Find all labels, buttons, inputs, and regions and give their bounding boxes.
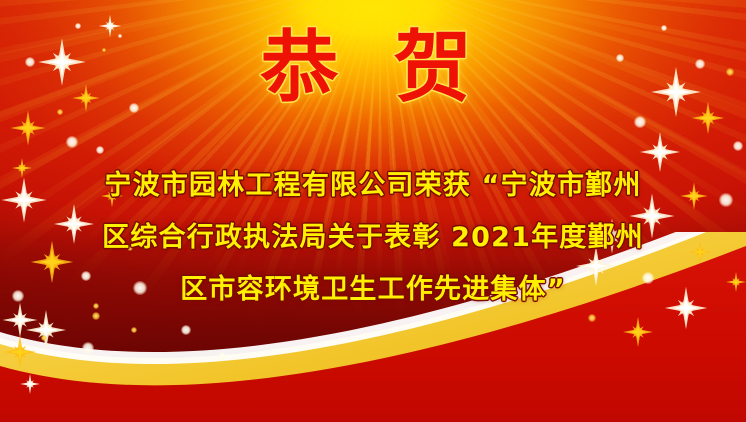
award-line-2: 区综合行政执法局关于表彰 2021年度鄞州 — [0, 212, 746, 264]
sparkle-star-icon — [10, 110, 46, 146]
congratulation-poster: 恭 贺 宁波市园林工程有限公司荣获 “宁波市鄞州 区综合行政执法局关于表彰 20… — [0, 0, 746, 422]
bokeh-dot — [181, 325, 191, 335]
sparkle-star-icon — [20, 374, 41, 395]
bokeh-dot — [41, 335, 47, 341]
award-line-1: 宁波市园林工程有限公司荣获 “宁波市鄞州 — [0, 160, 746, 212]
award-line-3: 区市容环境卫生工作先进集体” — [0, 264, 746, 316]
sparkle-star-icon — [622, 316, 653, 347]
bokeh-dot — [131, 327, 137, 333]
bokeh-dot — [82, 342, 94, 354]
page-title: 恭 贺 — [0, 26, 746, 110]
bokeh-dot — [96, 146, 104, 154]
bokeh-dot — [66, 136, 78, 148]
bokeh-dot — [218, 352, 226, 360]
award-body-text: 宁波市园林工程有限公司荣获 “宁波市鄞州 区综合行政执法局关于表彰 2021年度… — [0, 160, 746, 316]
sparkle-star-icon — [3, 335, 37, 369]
bokeh-dot — [733, 141, 743, 151]
bokeh-dot — [634, 116, 646, 128]
